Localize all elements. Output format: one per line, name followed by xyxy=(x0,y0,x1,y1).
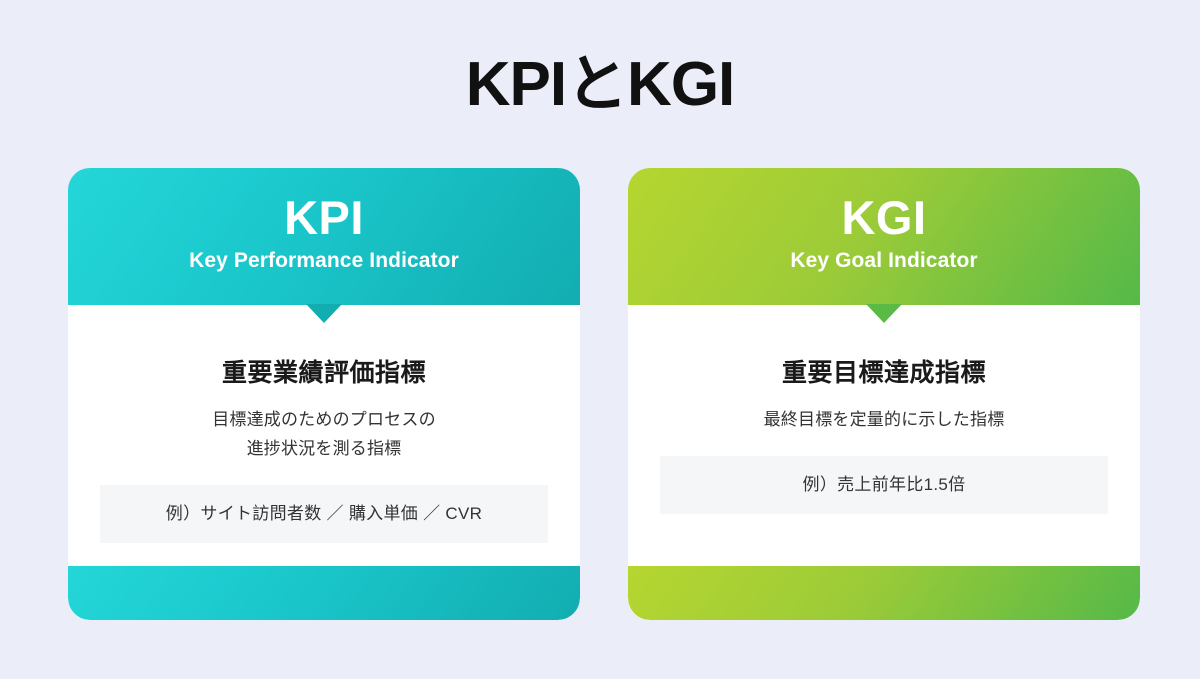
kgi-triangle-pointer-icon xyxy=(866,304,902,323)
card-kgi-abbr: KGI xyxy=(841,190,926,245)
card-kpi: KPI Key Performance Indicator 重要業績評価指標 目… xyxy=(68,168,580,620)
card-kgi-heading: 重要目標達成指標 xyxy=(782,358,986,388)
card-kgi: KGI Key Goal Indicator 重要目標達成指標 最終目標を定量的… xyxy=(628,168,1140,620)
infographic-page: KPIとKGI KPI Key Performance Indicator 重要… xyxy=(0,0,1200,679)
page-title: KPIとKGI xyxy=(0,47,1200,123)
card-kpi-full-name: Key Performance Indicator xyxy=(189,247,459,275)
card-kgi-full-name: Key Goal Indicator xyxy=(790,247,977,275)
card-kpi-description: 目標達成のためのプロセスの 進捗状況を測る指標 xyxy=(212,405,436,463)
card-kpi-abbr: KPI xyxy=(284,190,364,245)
card-kgi-footer-bar xyxy=(628,566,1140,620)
card-kpi-heading: 重要業績評価指標 xyxy=(222,358,426,388)
card-kgi-example-box: 例）売上前年比1.5倍 xyxy=(660,456,1108,514)
card-kpi-description-line1: 目標達成のためのプロセスの xyxy=(212,405,436,434)
card-kpi-description-line2: 進捗状況を測る指標 xyxy=(212,434,436,463)
cards-container: KPI Key Performance Indicator 重要業績評価指標 目… xyxy=(68,168,1140,620)
card-kpi-footer-bar xyxy=(68,566,580,620)
card-kpi-header: KPI Key Performance Indicator xyxy=(68,168,580,305)
card-kgi-header: KGI Key Goal Indicator xyxy=(628,168,1140,305)
kpi-triangle-pointer-icon xyxy=(306,304,342,323)
card-kpi-example-box: 例）サイト訪問者数 ／ 購入単価 ／ CVR xyxy=(100,485,548,543)
card-kgi-description: 最終目標を定量的に示した指標 xyxy=(764,405,1005,434)
card-kgi-description-line1: 最終目標を定量的に示した指標 xyxy=(764,405,1005,434)
